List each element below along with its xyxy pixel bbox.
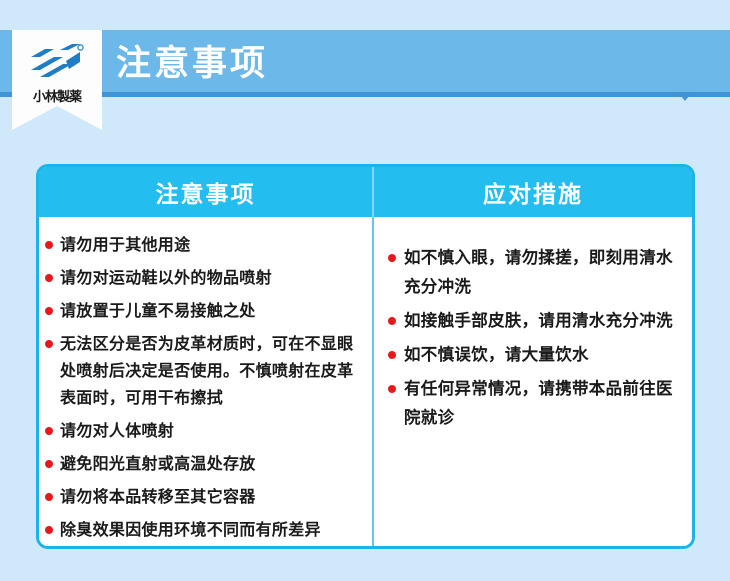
list-item: 请勿用于其他用途 (43, 231, 364, 258)
precautions-cell: 请勿用于其他用途 请勿对运动鞋以外的物品喷射 请放置于儿童不易接触之处 无法区分… (39, 217, 372, 549)
list-item: 请勿对运动鞋以外的物品喷射 (43, 264, 364, 291)
top-banner (0, 30, 730, 97)
column-header-precautions: 注意事项 (39, 167, 372, 217)
list-item: 如不慎误饮，请大量饮水 (386, 340, 680, 369)
countermeasures-list: 如不慎入眼，请勿揉搓，即刻用清水充分冲洗 如接触手部皮肤，请用清水充分冲洗 如不… (386, 243, 680, 432)
list-item: 请勿将本品转移至其它容器 (43, 483, 364, 510)
precautions-table: 注意事项 应对措施 请勿用于其他用途 请勿对运动鞋以外的物品喷射 请放置于儿童不… (36, 164, 695, 549)
list-item: 无法区分是否为皮革材质时，可在不显眼处喷射后决定是否使用。不慎喷射在皮革表面时，… (43, 330, 364, 411)
list-item: 如不慎入眼，请勿揉搓，即刻用清水充分冲洗 (386, 243, 680, 301)
kobayashi-logo-icon (28, 44, 86, 84)
countermeasures-cell: 如不慎入眼，请勿揉搓，即刻用清水充分冲洗 如接触手部皮肤，请用清水充分冲洗 如不… (374, 217, 692, 549)
list-item: 请勿对人体喷射 (43, 417, 364, 444)
list-item: 如接触手部皮肤，请用清水充分冲洗 (386, 306, 680, 335)
banner-notch-icon (678, 92, 692, 101)
precautions-list: 请勿用于其他用途 请勿对运动鞋以外的物品喷射 请放置于儿童不易接触之处 无法区分… (43, 231, 364, 543)
column-header-countermeasures: 应对措施 (374, 167, 692, 217)
table-body-row: 请勿用于其他用途 请勿对运动鞋以外的物品喷射 请放置于儿童不易接触之处 无法区分… (39, 217, 692, 549)
list-item: 有任何异常情况，请携带本品前往医院就诊 (386, 374, 680, 432)
list-item: 除臭效果因使用环境不同而有所差异 (43, 516, 364, 543)
list-item: 请放置于儿童不易接触之处 (43, 297, 364, 324)
brand-logo-ribbon: 小林製薬 (12, 30, 102, 130)
page-title: 注意事项 (116, 36, 268, 92)
brand-name: 小林製薬 (12, 86, 102, 105)
table-header-row: 注意事项 应对措施 (39, 167, 692, 217)
list-item: 避免阳光直射或高温处存放 (43, 450, 364, 477)
